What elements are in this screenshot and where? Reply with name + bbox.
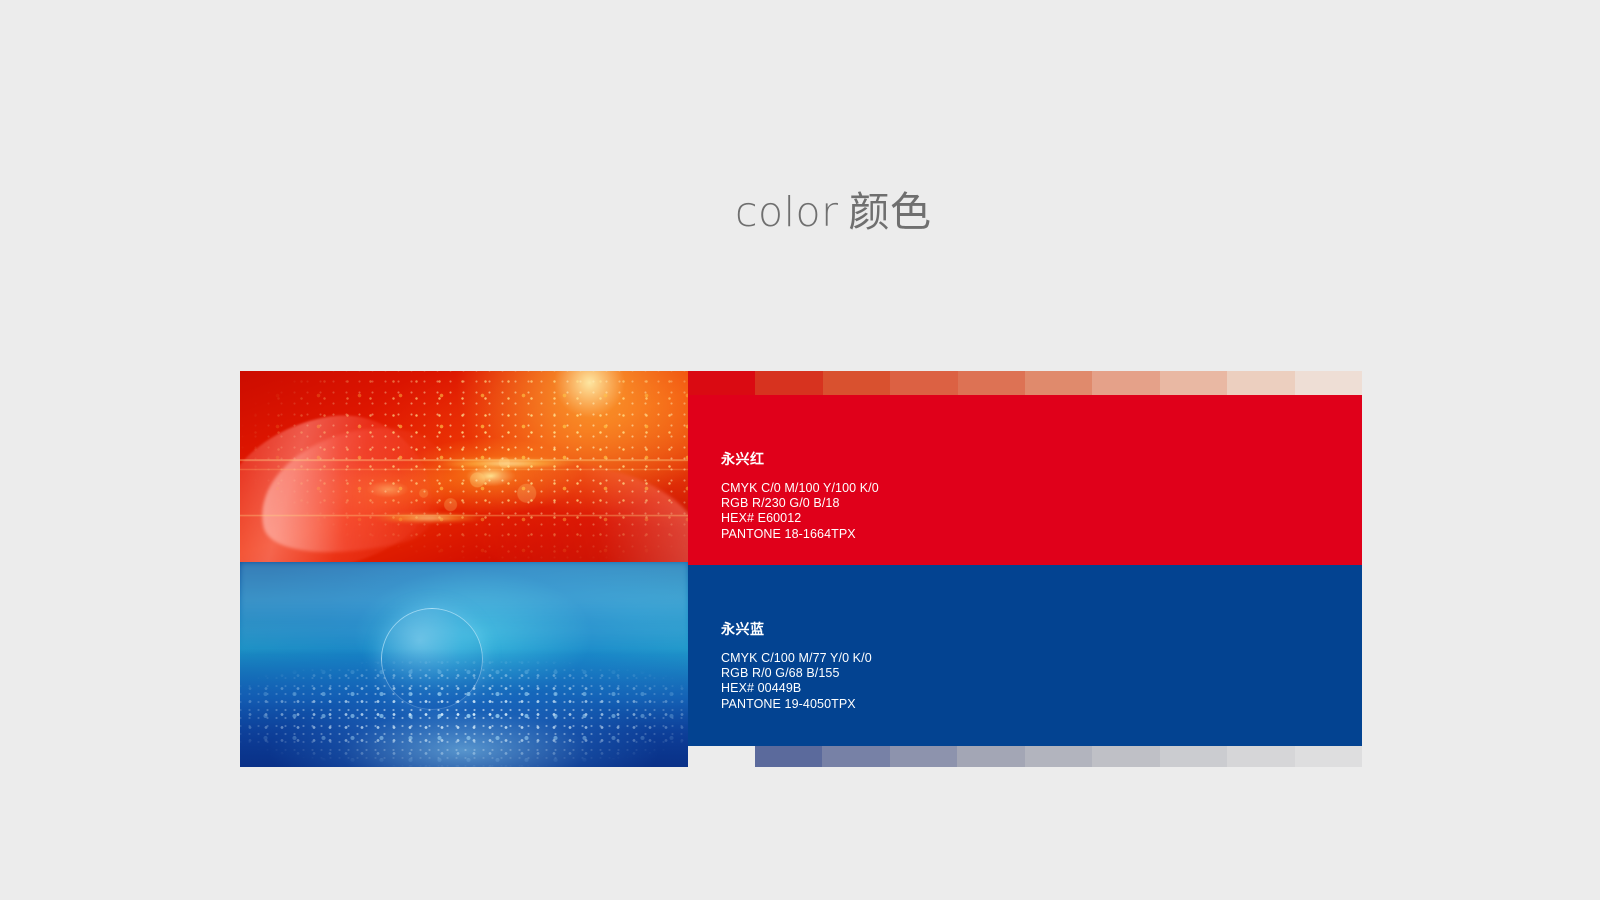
blue-particle-foam [240, 655, 688, 767]
red-tint-chip [1025, 371, 1092, 396]
blue-pantone-value: PANTONE 19-4050TPX [721, 697, 1362, 712]
blue-tint-chip [1092, 746, 1159, 767]
blue-digital-globe-photo [240, 562, 688, 767]
blue-color-block: 永兴蓝 CMYK C/100 M/77 Y/0 K/0 RGB R/0 G/68… [688, 565, 1362, 746]
page-title-cjk: 颜色 [848, 188, 931, 236]
red-cmyk-value: CMYK C/0 M/100 Y/100 K/0 [721, 481, 1362, 496]
red-rgb-value: RGB R/230 G/0 B/18 [721, 496, 1362, 511]
blue-color-name: 永兴蓝 [721, 619, 1362, 639]
blue-tint-chip [1227, 746, 1294, 767]
blue-rgb-value: RGB R/0 G/68 B/155 [721, 666, 1362, 681]
color-board: 永兴红 CMYK C/0 M/100 Y/100 K/0 RGB R/230 G… [240, 371, 1362, 767]
red-color-values: CMYK C/0 M/100 Y/100 K/0 RGB R/230 G/0 B… [721, 481, 1362, 542]
blue-cmyk-value: CMYK C/100 M/77 Y/0 K/0 [721, 651, 1362, 666]
red-tint-chip [755, 371, 822, 396]
blue-tint-chip [1025, 746, 1092, 767]
color-specification-page: color颜色 [0, 0, 1600, 900]
blue-tint-chip [890, 746, 957, 767]
red-tint-chip [688, 371, 755, 396]
red-tint-chip [890, 371, 957, 396]
blue-tint-strip [755, 746, 1362, 767]
red-tint-chip [1295, 371, 1362, 396]
page-title-latin: color [735, 188, 838, 236]
blue-color-values: CMYK C/100 M/77 Y/0 K/0 RGB R/0 G/68 B/1… [721, 651, 1362, 712]
blue-color-info: 永兴蓝 CMYK C/100 M/77 Y/0 K/0 RGB R/0 G/68… [688, 565, 1362, 712]
red-tint-chip [1092, 371, 1159, 396]
red-tint-chip [823, 371, 890, 396]
red-silk-particles-photo [240, 371, 688, 562]
blue-tint-chip [1295, 746, 1362, 767]
blue-tint-chip [957, 746, 1024, 767]
red-color-name: 永兴红 [721, 449, 1362, 469]
red-lower-glow [374, 514, 484, 522]
red-color-info: 永兴红 CMYK C/0 M/100 Y/100 K/0 RGB R/230 G… [688, 395, 1362, 542]
page-title: color颜色 [735, 178, 931, 238]
blue-hex-value: HEX# 00449B [721, 681, 1362, 696]
red-center-glow [437, 459, 577, 468]
blue-tint-chip [1160, 746, 1227, 767]
red-hex-value: HEX# E60012 [721, 511, 1362, 526]
red-tint-chip [1160, 371, 1227, 396]
red-tint-chip [1227, 371, 1294, 396]
red-pantone-value: PANTONE 18-1664TPX [721, 527, 1362, 542]
blue-tint-chip [822, 746, 889, 767]
red-color-block: 永兴红 CMYK C/0 M/100 Y/100 K/0 RGB R/230 G… [688, 395, 1362, 565]
blue-tint-chip [755, 746, 822, 767]
red-tint-chip [958, 371, 1025, 396]
red-tint-strip [688, 371, 1362, 396]
